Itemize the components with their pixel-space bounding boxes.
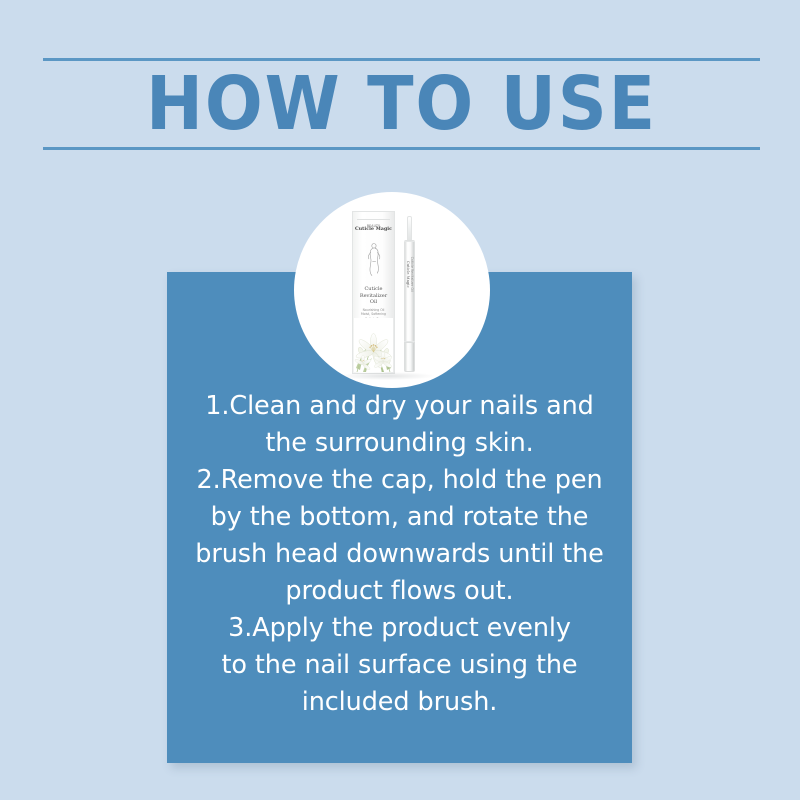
instruction-line: brush head downwards until the xyxy=(167,536,632,573)
pen-brand: Cuticle Magic xyxy=(406,242,410,306)
instruction-line: 1.Clean and dry your nails and xyxy=(167,388,632,425)
instruction-line: by the bottom, and rotate the xyxy=(167,499,632,536)
carton-subtitle-line2: Moist, Softening xyxy=(361,312,386,316)
instruction-line: the surrounding skin. xyxy=(167,425,632,462)
lily-flower-icon xyxy=(354,318,393,372)
pen-cap xyxy=(404,342,415,372)
header-bottom-rule xyxy=(43,147,760,150)
instruction-line: to the nail surface using the xyxy=(167,647,632,684)
carton-brand-main: Cuticle Magic xyxy=(353,228,394,232)
poster-root: HOW TO USE BEAUTY Cuticle Magic xyxy=(0,0,800,800)
page-title: HOW TO USE xyxy=(72,62,732,147)
instruction-line: product flows out. xyxy=(167,573,632,610)
product-stage: BEAUTY Cuticle Magic Cuticle xyxy=(294,192,490,388)
pen-label: Cuticle Revitalizer Oil Cuticle Magic xyxy=(406,242,414,306)
carton-name-line1: Cuticle xyxy=(364,286,382,292)
carton-product-name: Cuticle Revitalizer Oil xyxy=(355,286,392,306)
header: HOW TO USE xyxy=(43,58,760,158)
instruction-line: 3.Apply the product evenly xyxy=(167,610,632,647)
instruction-line: included brush. xyxy=(167,684,632,721)
instruction-line: 2.Remove the cap, hold the pen xyxy=(167,462,632,499)
floral-artwork xyxy=(354,318,393,372)
carton-name-line3: Oil xyxy=(370,299,377,305)
product-pen: Cuticle Revitalizer Oil Cuticle Magic xyxy=(402,214,418,372)
carton-divider xyxy=(357,219,390,220)
product-image-circle: BEAUTY Cuticle Magic Cuticle xyxy=(294,192,490,388)
figure-illustration-icon xyxy=(364,242,384,278)
carton-subtitle-line1: Nourishing Oil xyxy=(363,308,385,312)
carton-brand: BEAUTY Cuticle Magic xyxy=(353,224,394,232)
pen-brush-tip xyxy=(407,216,412,242)
product-carton: BEAUTY Cuticle Magic Cuticle xyxy=(352,211,395,374)
product-shadow xyxy=(339,372,434,380)
instructions-text: 1.Clean and dry your nails and the surro… xyxy=(167,388,632,721)
carton-name-line2: Revitalizer xyxy=(360,293,387,299)
